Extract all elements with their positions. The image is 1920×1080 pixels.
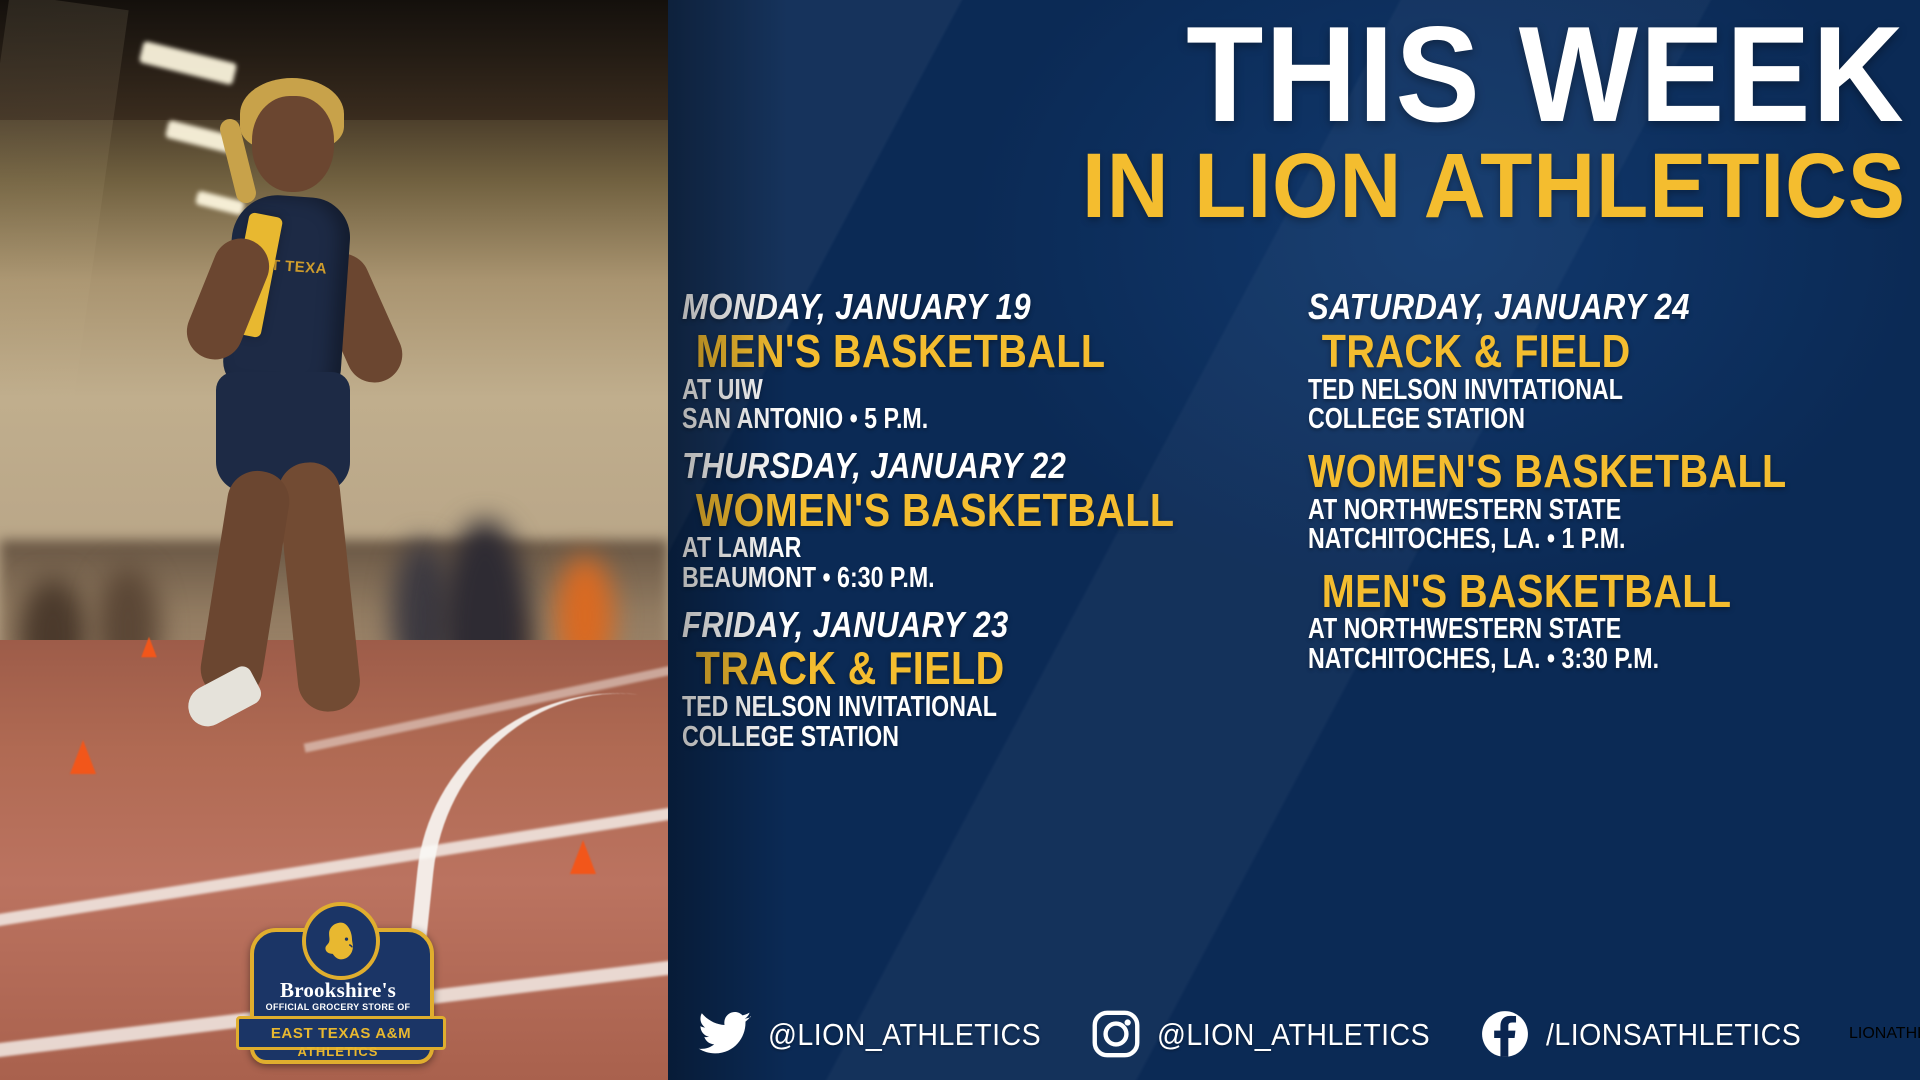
traffic-cone-icon xyxy=(141,637,157,657)
event-date: FRIDAY, JANUARY 23 xyxy=(682,606,1241,645)
event-opponent: AT UIW xyxy=(682,376,1202,406)
event-date: SATURDAY, JANUARY 24 xyxy=(1308,288,1841,327)
event-item: FRIDAY, JANUARY 23 TRACK & FIELD TED NEL… xyxy=(682,606,1332,753)
instagram-link[interactable]: @LION_ATHLETICS xyxy=(1091,1009,1480,1059)
facebook-link[interactable]: /LIONSATHLETICS xyxy=(1480,1009,1849,1059)
event-sport: WOMEN'S BASKETBALL xyxy=(682,486,1241,535)
event-item: SATURDAY, JANUARY 24 TRACK & FIELD TED N… xyxy=(1308,288,1920,435)
event-opponent: AT LAMAR xyxy=(682,534,1202,564)
event-opponent: TED NELSON INVITATIONAL xyxy=(682,693,1202,723)
event-location-time: COLLEGE STATION xyxy=(682,723,1202,753)
event-sport: MEN'S BASKETBALL xyxy=(1308,567,1841,616)
instagram-handle: @LION_ATHLETICS xyxy=(1157,1019,1430,1050)
facebook-handle: /LIONSATHLETICS xyxy=(1546,1019,1801,1050)
lion-head-icon xyxy=(302,902,380,980)
athlete-photo: AST TEXA ET Brookshire's OFFICIAL GROCER… xyxy=(0,0,668,1080)
traffic-cone-icon xyxy=(70,740,96,774)
twitter-handle: @LION_ATHLETICS xyxy=(768,1019,1041,1050)
event-date: MONDAY, JANUARY 19 xyxy=(682,288,1241,327)
schedule-column-right: SATURDAY, JANUARY 24 TRACK & FIELD TED N… xyxy=(1308,288,1920,687)
event-sport: WOMEN'S BASKETBALL xyxy=(1308,447,1841,496)
runner-head xyxy=(252,96,334,192)
event-location-time: NATCHITOCHES, LA. • 3:30 P.M. xyxy=(1308,645,1804,675)
twitter-link[interactable]: @LION_ATHLETICS xyxy=(698,1011,1091,1057)
event-opponent: AT NORTHWESTERN STATE xyxy=(1308,496,1804,526)
event-sport: MEN'S BASKETBALL xyxy=(682,327,1241,376)
twitter-icon[interactable] xyxy=(698,1011,752,1057)
facebook-icon[interactable] xyxy=(1480,1009,1530,1059)
event-item: THURSDAY, JANUARY 22 WOMEN'S BASKETBALL … xyxy=(682,447,1332,594)
event-opponent: TED NELSON INVITATIONAL xyxy=(1308,376,1804,406)
sponsor-division: ATHLETICS xyxy=(250,1044,426,1059)
website-url[interactable]: LIONATHLETICS.COM xyxy=(1849,1025,1920,1043)
event-date: THURSDAY, JANUARY 22 xyxy=(682,447,1241,486)
event-item: MONDAY, JANUARY 19 MEN'S BASKETBALL AT U… xyxy=(682,288,1332,435)
event-item: MEN'S BASKETBALL AT NORTHWESTERN STATE N… xyxy=(1308,567,1920,675)
event-location-time: COLLEGE STATION xyxy=(1308,405,1804,435)
schedule-panel: THIS WEEK IN LION ATHLETICS MONDAY, JANU… xyxy=(668,0,1920,1080)
event-sport: TRACK & FIELD xyxy=(682,644,1241,693)
this-week-in-lion-athletics-graphic: AST TEXA ET Brookshire's OFFICIAL GROCER… xyxy=(0,0,1920,1080)
event-opponent: AT NORTHWESTERN STATE xyxy=(1308,615,1804,645)
social-footer: @LION_ATHLETICS @LION_ATHLETICS /LIONSAT… xyxy=(668,988,1920,1080)
page-title: THIS WEEK xyxy=(1187,6,1906,142)
sponsor-badge: Brookshire's OFFICIAL GROCERY STORE OF E… xyxy=(232,900,442,1068)
sponsor-tagline: OFFICIAL GROCERY STORE OF xyxy=(250,1002,426,1012)
sponsor-brand: Brookshire's xyxy=(250,978,426,1003)
instagram-icon[interactable] xyxy=(1091,1009,1141,1059)
event-sport: TRACK & FIELD xyxy=(1308,327,1841,376)
page-subtitle: IN LION ATHLETICS xyxy=(1082,140,1906,232)
traffic-cone-icon xyxy=(570,840,596,874)
event-location-time: NATCHITOCHES, LA. • 1 P.M. xyxy=(1308,525,1804,555)
event-location-time: BEAUMONT • 6:30 P.M. xyxy=(682,564,1202,594)
schedule-column-left: MONDAY, JANUARY 19 MEN'S BASKETBALL AT U… xyxy=(682,288,1332,764)
event-location-time: SAN ANTONIO • 5 P.M. xyxy=(682,405,1202,435)
event-item: WOMEN'S BASKETBALL AT NORTHWESTERN STATE… xyxy=(1308,447,1920,555)
